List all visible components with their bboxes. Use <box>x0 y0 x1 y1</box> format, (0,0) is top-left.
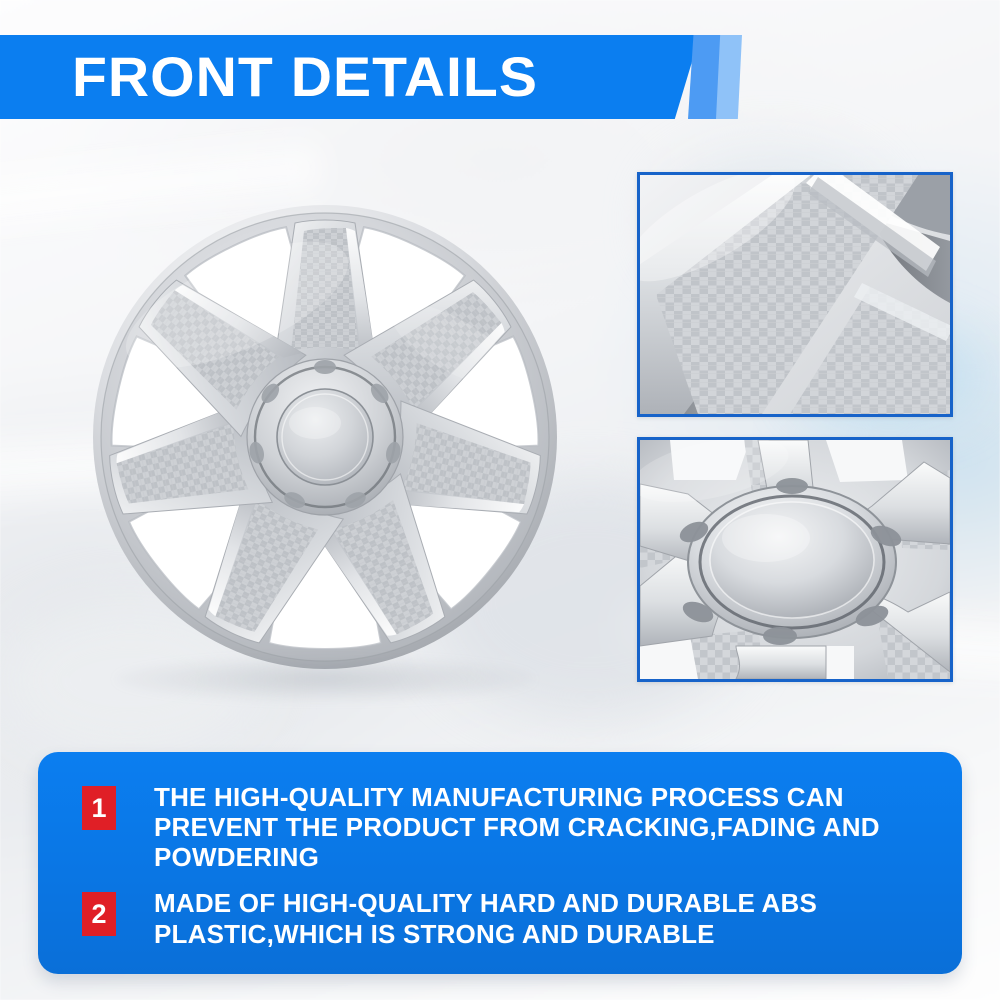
product-detail-page: FRONT DETAILS <box>0 0 1000 1000</box>
hubcap-illustration <box>55 175 595 695</box>
detail-inset-spoke-texture <box>637 172 953 417</box>
feature-number-badge: 1 <box>82 786 116 830</box>
spoke-texture-closeup-image <box>640 175 950 414</box>
feature-item-1: 1 THE HIGH-QUALITY MANUFACTURING PROCESS… <box>72 782 928 872</box>
feature-text: THE HIGH-QUALITY MANUFACTURING PROCESS C… <box>154 782 928 872</box>
feature-number-badge: 2 <box>82 892 116 936</box>
detail-inset-center-hub <box>637 437 953 682</box>
feature-list-panel: 1 THE HIGH-QUALITY MANUFACTURING PROCESS… <box>38 752 962 974</box>
product-image-main <box>55 175 595 695</box>
page-title: FRONT DETAILS <box>72 35 538 119</box>
header-banner: FRONT DETAILS <box>0 35 740 119</box>
banner-accent-stripe-2 <box>716 35 742 119</box>
feature-text: MADE OF HIGH-QUALITY HARD AND DURABLE AB… <box>154 888 928 948</box>
feature-item-2: 2 MADE OF HIGH-QUALITY HARD AND DURABLE … <box>72 888 928 948</box>
center-hub-closeup-image <box>640 440 950 679</box>
product-shadow <box>115 657 535 701</box>
